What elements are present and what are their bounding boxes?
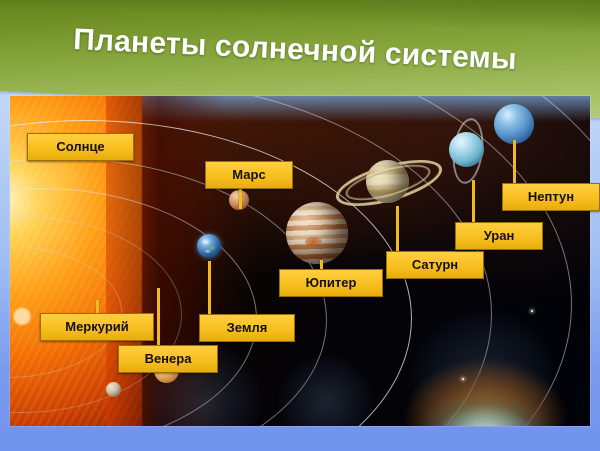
callout-earth[interactable]: Земля xyxy=(199,314,295,342)
uranus-planet xyxy=(449,132,484,167)
star xyxy=(531,310,533,312)
leader-line-uranus xyxy=(472,180,475,222)
leader-line-earth xyxy=(208,261,211,314)
callout-saturn[interactable]: Сатурн xyxy=(386,251,484,279)
star xyxy=(462,378,464,380)
mercury-planet xyxy=(106,382,121,397)
callout-sun[interactable]: Солнце xyxy=(27,133,134,161)
presentation-slide: Планеты солнечной системы xyxy=(0,0,600,451)
nebula xyxy=(380,328,590,426)
uranus-group xyxy=(448,116,488,186)
saturn-group xyxy=(364,158,414,208)
callout-venus[interactable]: Венера xyxy=(118,345,218,373)
callout-neptune[interactable]: Нептун xyxy=(502,183,600,211)
leader-line-saturn xyxy=(396,206,399,251)
callout-uranus[interactable]: Уран xyxy=(455,222,543,250)
callout-jupiter[interactable]: Юпитер xyxy=(279,269,383,297)
jupiter-planet xyxy=(286,202,348,264)
leader-line-neptune xyxy=(513,140,516,183)
earth-planet xyxy=(197,234,221,258)
leader-line-mars xyxy=(239,187,242,209)
leader-line-mercury xyxy=(96,300,99,314)
callout-mercury[interactable]: Меркурий xyxy=(40,313,154,341)
neptune-planet xyxy=(494,104,534,144)
callout-mars[interactable]: Марс xyxy=(205,161,293,189)
leader-line-venus xyxy=(157,288,160,345)
